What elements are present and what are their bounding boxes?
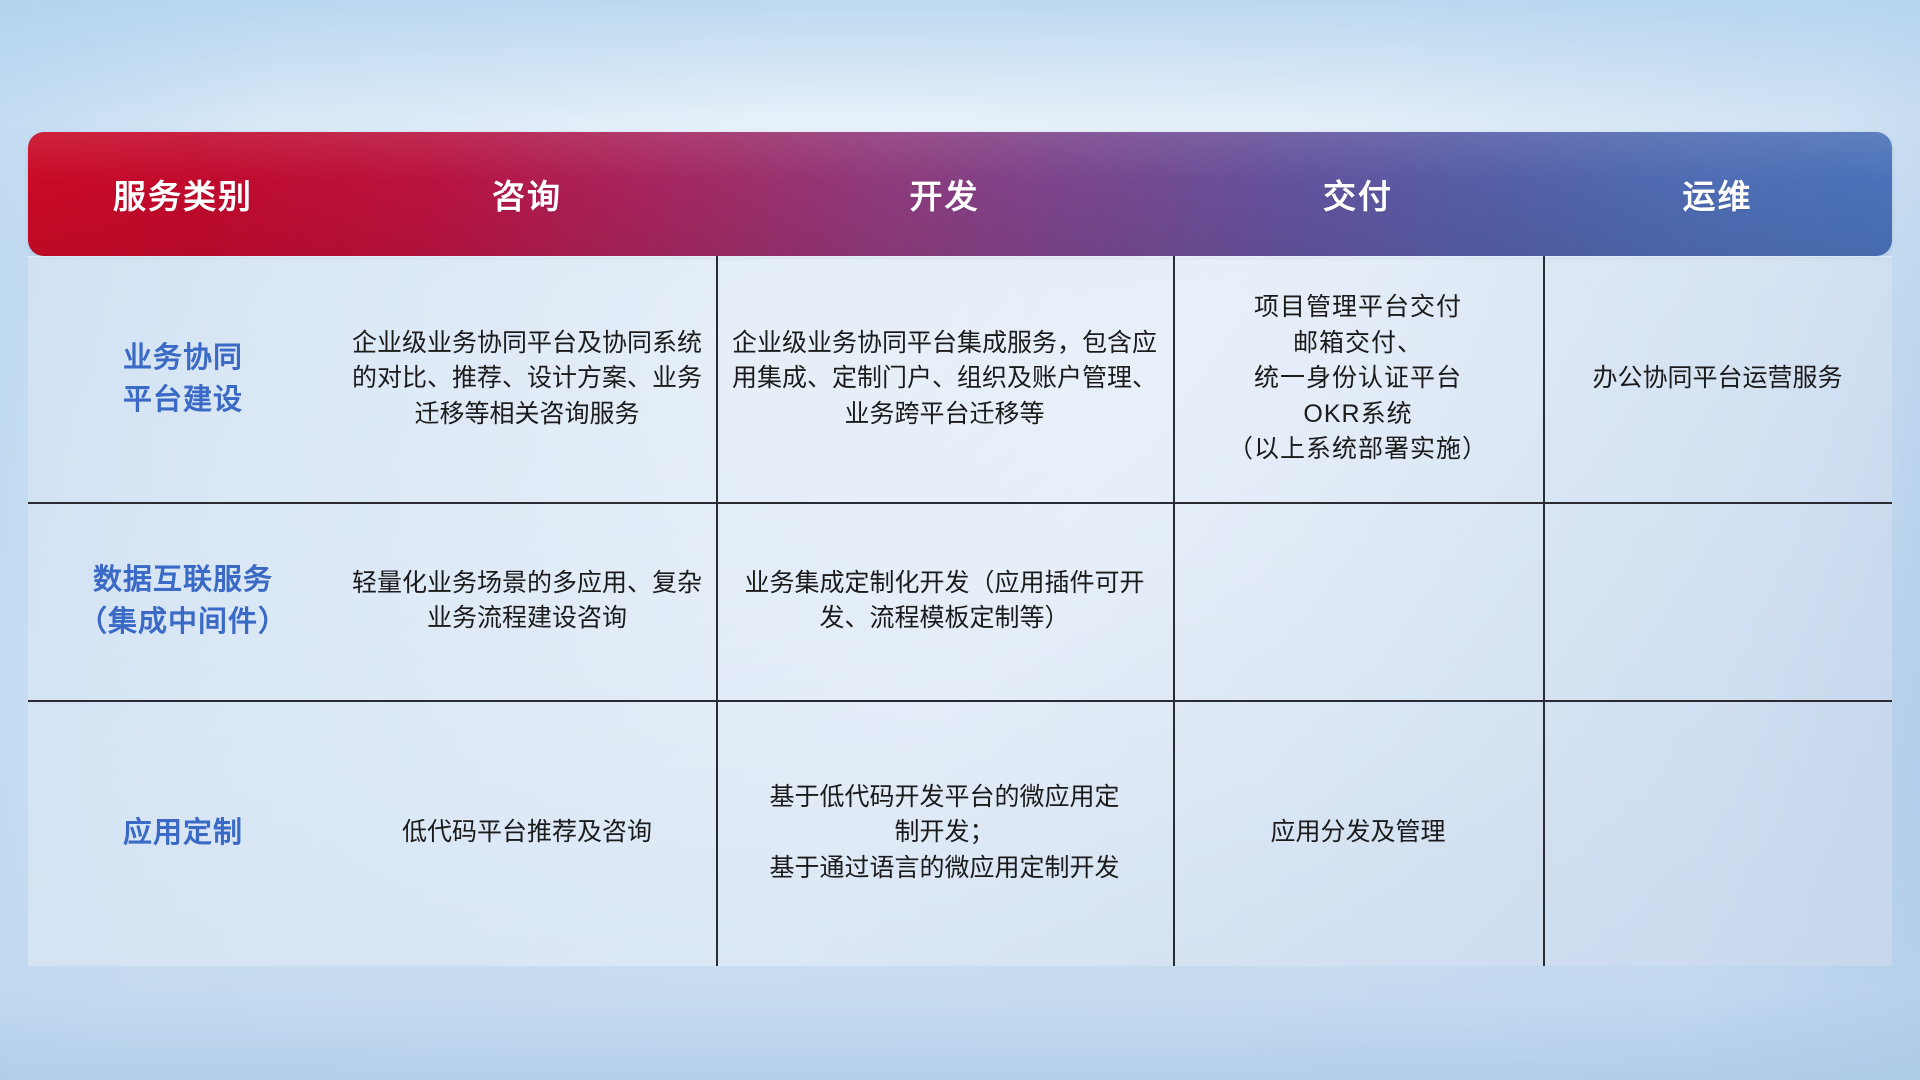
row-category-line: 数据互联服务 bbox=[93, 564, 273, 596]
cell-consulting: 企业级业务协同平台及协同系统的对比、推荐、设计方案、业务迁移等相关咨询服务 bbox=[338, 256, 716, 502]
row-category-label: 业务协同 平台建设 bbox=[28, 256, 338, 502]
column-divider-development-delivery bbox=[1173, 256, 1175, 966]
table-header-row: 服务类别 咨询 开发 交付 运维 bbox=[28, 132, 1892, 256]
column-divider-consulting-development bbox=[716, 256, 718, 966]
cell-delivery bbox=[1173, 502, 1543, 700]
table-row: 应用定制 低代码平台推荐及咨询 基于低代码开发平台的微应用定 制开发； 基于通过… bbox=[28, 700, 1892, 966]
cell-delivery-line: OKR系统 bbox=[1303, 400, 1412, 428]
row-category-label: 数据互联服务 （集成中间件） bbox=[28, 502, 338, 700]
column-divider-delivery-operations bbox=[1543, 256, 1545, 966]
row-category-line: （集成中间件） bbox=[78, 606, 288, 638]
table-row: 业务协同 平台建设 企业级业务协同平台及协同系统的对比、推荐、设计方案、业务迁移… bbox=[28, 256, 1892, 502]
row-divider-2 bbox=[28, 700, 1892, 702]
cell-delivery-line: （以上系统部署实施） bbox=[1228, 435, 1488, 463]
cell-delivery: 项目管理平台交付 邮箱交付、 统一身份认证平台 OKR系统 （以上系统部署实施） bbox=[1173, 256, 1543, 502]
cell-development-line: 基于通过语言的微应用定制开发 bbox=[769, 854, 1119, 882]
cell-operations bbox=[1543, 700, 1892, 966]
cell-development: 业务集成定制化开发（应用插件可开发、流程模板定制等） bbox=[716, 502, 1173, 700]
cell-operations: 办公协同平台运营服务 bbox=[1543, 256, 1892, 502]
cell-delivery-line: 项目管理平台交付 bbox=[1254, 293, 1462, 321]
cell-operations bbox=[1543, 502, 1892, 700]
column-header-development: 开发 bbox=[716, 132, 1173, 256]
table-body: 业务协同 平台建设 企业级业务协同平台及协同系统的对比、推荐、设计方案、业务迁移… bbox=[28, 256, 1892, 966]
row-category-line: 业务协同 bbox=[123, 342, 243, 374]
column-header-delivery: 交付 bbox=[1173, 132, 1543, 256]
cell-development-line: 制开发； bbox=[894, 818, 994, 846]
cell-consulting: 轻量化业务场景的多应用、复杂业务流程建设咨询 bbox=[338, 502, 716, 700]
cell-consulting: 低代码平台推荐及咨询 bbox=[338, 700, 716, 966]
row-category-label: 应用定制 bbox=[28, 700, 338, 966]
cell-development-line: 基于低代码开发平台的微应用定 bbox=[769, 783, 1119, 811]
row-category-line: 平台建设 bbox=[123, 384, 243, 416]
column-header-consulting: 咨询 bbox=[338, 132, 716, 256]
service-matrix-table: 服务类别 咨询 开发 交付 运维 业务协同 平台建设 企业级业务协同平台及协同系… bbox=[28, 132, 1892, 966]
cell-delivery-line: 统一身份认证平台 bbox=[1254, 364, 1462, 392]
table-row: 数据互联服务 （集成中间件） 轻量化业务场景的多应用、复杂业务流程建设咨询 业务… bbox=[28, 502, 1892, 700]
cell-development: 基于低代码开发平台的微应用定 制开发； 基于通过语言的微应用定制开发 bbox=[716, 700, 1173, 966]
column-header-operations: 运维 bbox=[1543, 132, 1892, 256]
row-category-line: 应用定制 bbox=[123, 812, 243, 854]
cell-development: 企业级业务协同平台集成服务，包含应用集成、定制门户、组织及账户管理、业务跨平台迁… bbox=[716, 256, 1173, 502]
cell-delivery: 应用分发及管理 bbox=[1173, 700, 1543, 966]
row-divider-1 bbox=[28, 502, 1892, 504]
cell-delivery-line: 邮箱交付、 bbox=[1293, 329, 1423, 357]
column-header-service-category: 服务类别 bbox=[28, 132, 338, 256]
